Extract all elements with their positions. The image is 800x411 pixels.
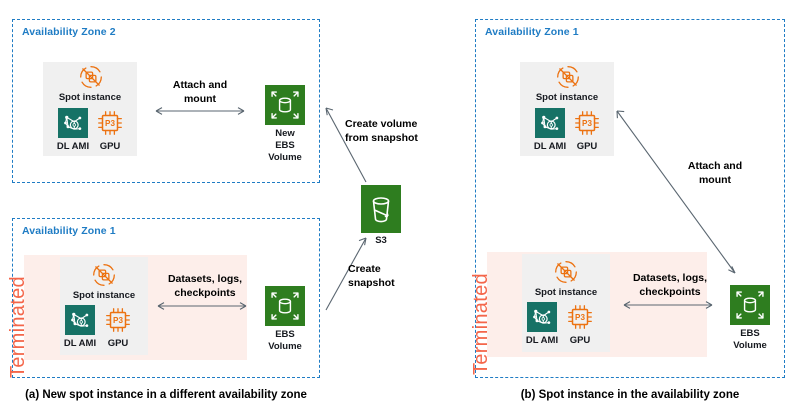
gpu-label-b-top: GPU [565, 141, 609, 153]
attach-mount-label-a-top: Attach and mount [145, 79, 255, 106]
gpu-chip-text: P3 [582, 119, 592, 128]
figure-caption-b: (b) Spot instance in the availability zo… [475, 389, 785, 401]
create-volume-from-snapshot-arrow [322, 104, 370, 186]
attach-mount-arrow-a-top [148, 104, 252, 118]
gpu-chip-icon: P3 [572, 108, 602, 138]
spot-instance-icon [553, 259, 579, 285]
gpu-chip-text: P3 [575, 313, 585, 322]
ebs-volume-icon [265, 286, 305, 326]
gpu-label-a-bottom: GPU [96, 338, 140, 350]
new-ebs-volume-label: New EBS Volume [255, 128, 315, 164]
gpu-chip-icon: P3 [103, 305, 133, 335]
spot-instance-icon [78, 64, 104, 90]
spot-instance-icon [91, 262, 117, 288]
dl-ami-icon [527, 302, 557, 332]
spot-instance-label-a-bottom: Spot instance [58, 290, 150, 302]
dl-ami-icon [65, 305, 95, 335]
dl-ami-icon [58, 108, 88, 138]
availability-zone-label-b: Availability Zone 1 [485, 26, 579, 38]
spot-instance-label-a-top: Spot instance [43, 92, 137, 104]
ebs-volume-icon [265, 85, 305, 125]
availability-zone-label-a-bottom: Availability Zone 1 [22, 225, 116, 237]
gpu-chip-icon: P3 [565, 302, 595, 332]
ebs-volume-label-a: EBS Volume [255, 329, 315, 353]
diagram-canvas: Availability Zone 2 Spot instance [0, 0, 800, 411]
gpu-chip-icon: P3 [95, 108, 125, 138]
spot-instance-label-b-top: Spot instance [520, 92, 614, 104]
datasets-logs-label-b: Datasets, logs, checkpoints [615, 272, 725, 299]
gpu-label-b-bottom: GPU [558, 335, 602, 347]
availability-zone-label-a-top: Availability Zone 2 [22, 26, 116, 38]
dl-ami-icon [535, 108, 565, 138]
create-volume-from-snapshot-label: Create volume from snapshot [345, 118, 445, 145]
gpu-label-a-top: GPU [88, 141, 132, 153]
figure-caption-a: (a) New spot instance in a different ava… [12, 389, 320, 401]
create-snapshot-label: Create snapshot [348, 263, 432, 290]
ebs-volume-label-b: EBS Volume [720, 328, 780, 352]
spot-instance-label-b-bottom: Spot instance [520, 287, 612, 299]
ebs-volume-icon [730, 285, 770, 325]
attach-mount-label-b: Attach and mount [660, 160, 770, 187]
datasets-arrow-a [150, 299, 254, 313]
gpu-chip-text: P3 [105, 119, 115, 128]
datasets-logs-label-a: Datasets, logs, checkpoints [150, 273, 260, 300]
gpu-chip-text: P3 [113, 316, 123, 325]
spot-instance-icon [555, 64, 581, 90]
terminated-label-b: Terminated [470, 273, 493, 375]
terminated-label-a: Terminated [7, 276, 30, 378]
s3-bucket-icon [361, 185, 401, 233]
datasets-arrow-b [616, 298, 720, 312]
